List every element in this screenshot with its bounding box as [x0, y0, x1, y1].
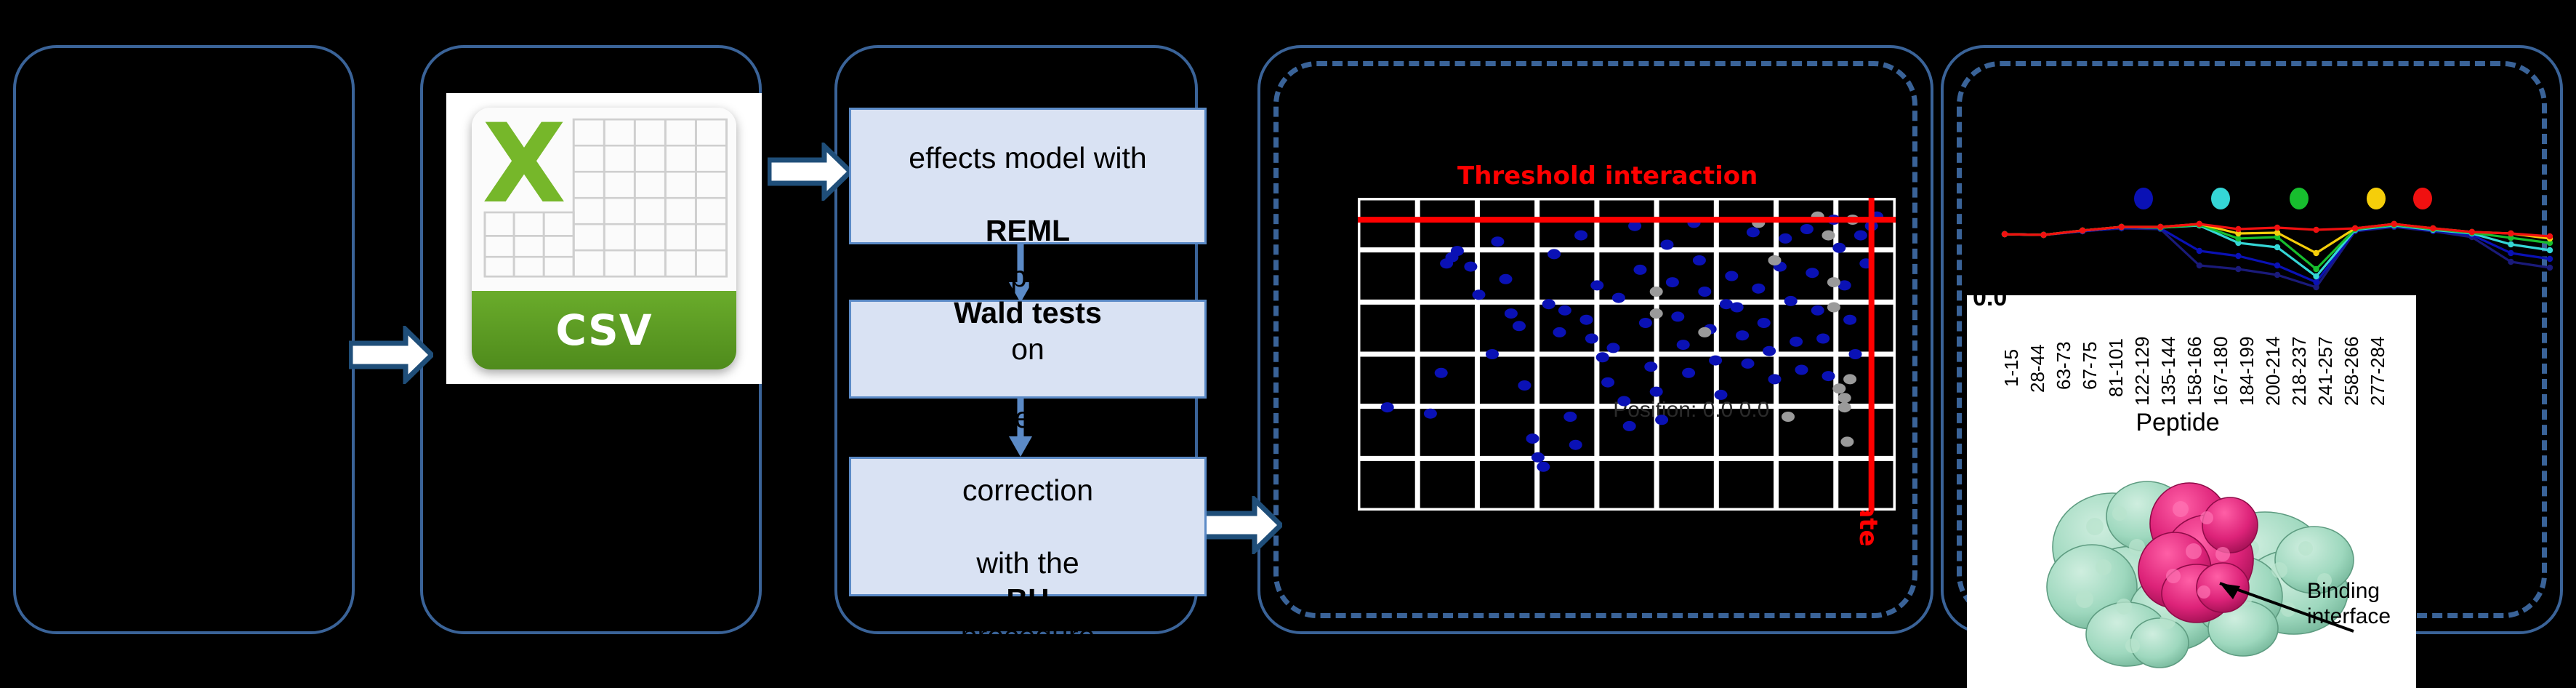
- flow-arrow-2: [768, 143, 852, 201]
- legend-dot-4: [2367, 188, 2386, 209]
- tick-label: 81-101: [2105, 338, 2128, 397]
- step3-head: with the: [924, 545, 1131, 581]
- tick-label: 135-144: [2157, 337, 2180, 406]
- panel-1-input: [13, 45, 355, 634]
- flow-arrow-1: [349, 326, 433, 384]
- step-multiple-testing-box[interactable]: Multiple testing correction with the BH …: [849, 457, 1207, 596]
- legend-dot-3: [2290, 188, 2309, 209]
- peptide-line-chart: [1989, 209, 2563, 297]
- step1-line1: Fit a linear mixed-: [904, 67, 1151, 103]
- step3-line2: correction: [924, 472, 1131, 508]
- tick-label: 218-237: [2288, 337, 2311, 406]
- step-wald-tests-box[interactable]: Apply Wald tests on the model parameters: [849, 300, 1207, 399]
- legend-dot-2: [2211, 188, 2230, 209]
- peptide-axis-title: Peptide: [1967, 409, 2388, 437]
- flow-arrow-3: [1198, 496, 1282, 554]
- peptide-x-tick-labels: 1-15 28-44 63-73 67-75 81-101 122-129 13…: [1967, 295, 2416, 397]
- tick-label: 158-166: [2183, 337, 2206, 406]
- structure-card: 0.0 1-15 28-44 63-73 67-75 81-101 122-12…: [1967, 295, 2416, 688]
- tick-label: 167-180: [2210, 337, 2232, 406]
- step1-line2: effects model with: [904, 140, 1151, 176]
- step2-head: Apply: [879, 258, 1178, 295]
- excel-x-icon: X: [482, 113, 577, 239]
- tick-label: 241-257: [2314, 337, 2337, 406]
- volcano-plot: Position: 0.0 0.0: [1358, 198, 1896, 511]
- binding-interface-annotation: Binding interface: [2307, 579, 2391, 629]
- legend-dot-5: [2413, 188, 2432, 209]
- tick-label: 184-199: [2236, 337, 2258, 406]
- legend-dot-1: [2134, 188, 2153, 209]
- step2-bold-wald: Wald tests: [954, 296, 1102, 329]
- step1-bold-reml: REML: [986, 214, 1070, 247]
- threshold-interaction-label: Threshold interaction: [1457, 161, 1758, 191]
- tick-label: 200-214: [2262, 337, 2285, 406]
- tick-label: 63-73: [2053, 342, 2075, 391]
- tick-label: 122-129: [2131, 337, 2154, 406]
- step-fit-model-box[interactable]: Fit a linear mixed- effects model with R…: [849, 108, 1207, 244]
- tick-label: 258-266: [2340, 337, 2363, 406]
- tick-label: 28-44: [2026, 345, 2049, 393]
- csv-icon-body: X CSV: [472, 108, 737, 369]
- step3-bold-bh: BH: [1006, 583, 1049, 616]
- svg-text:Position: 0.0 0.0: Position: 0.0 0.0: [1613, 398, 1769, 422]
- csv-file-icon: X CSV: [446, 93, 762, 384]
- step3-tail: procedure: [924, 617, 1131, 654]
- step3-line1: Multiple testing: [924, 399, 1131, 436]
- step2-tail: on: [879, 331, 1178, 367]
- csv-format-label: CSV: [555, 305, 652, 355]
- peptide-figure: 0.0 1-15 28-44 63-73 67-75 81-101 122-12…: [1989, 153, 2563, 687]
- tick-label: 277-284: [2367, 337, 2389, 406]
- binding-label-line1: Binding: [2307, 579, 2391, 604]
- csv-format-band: CSV: [472, 291, 737, 369]
- binding-label-line2: interface: [2307, 604, 2391, 630]
- tick-label: 67-75: [2079, 342, 2101, 391]
- tick-label: 1-15: [2000, 349, 2023, 387]
- protein-structure-image: [2025, 438, 2367, 678]
